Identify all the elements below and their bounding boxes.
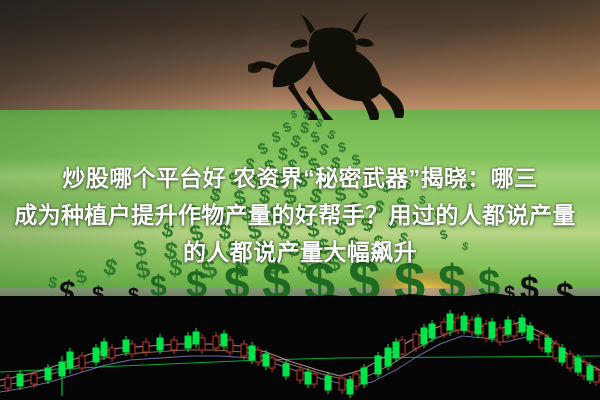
banner-image: $ $ $ $ $ $ $ $ $ $ $ $ $ $ $ $ $ $ $ $ … (0, 0, 600, 400)
headline-line-2: 成为种植户提升作物产量的好帮手？用过的人都说产量 (0, 197, 600, 234)
headline-text: 炒股哪个平台好 农资界“秘密武器”揭晓：哪三 成为种植户提升作物产量的好帮手？用… (0, 160, 600, 271)
bull-icon (248, 8, 418, 120)
headline-line-1: 炒股哪个平台好 农资界“秘密武器”揭晓：哪三 (0, 160, 600, 197)
headline-line-3: 的人都说产量大幅飙升 (0, 234, 600, 271)
candlestick-chart (0, 300, 600, 400)
